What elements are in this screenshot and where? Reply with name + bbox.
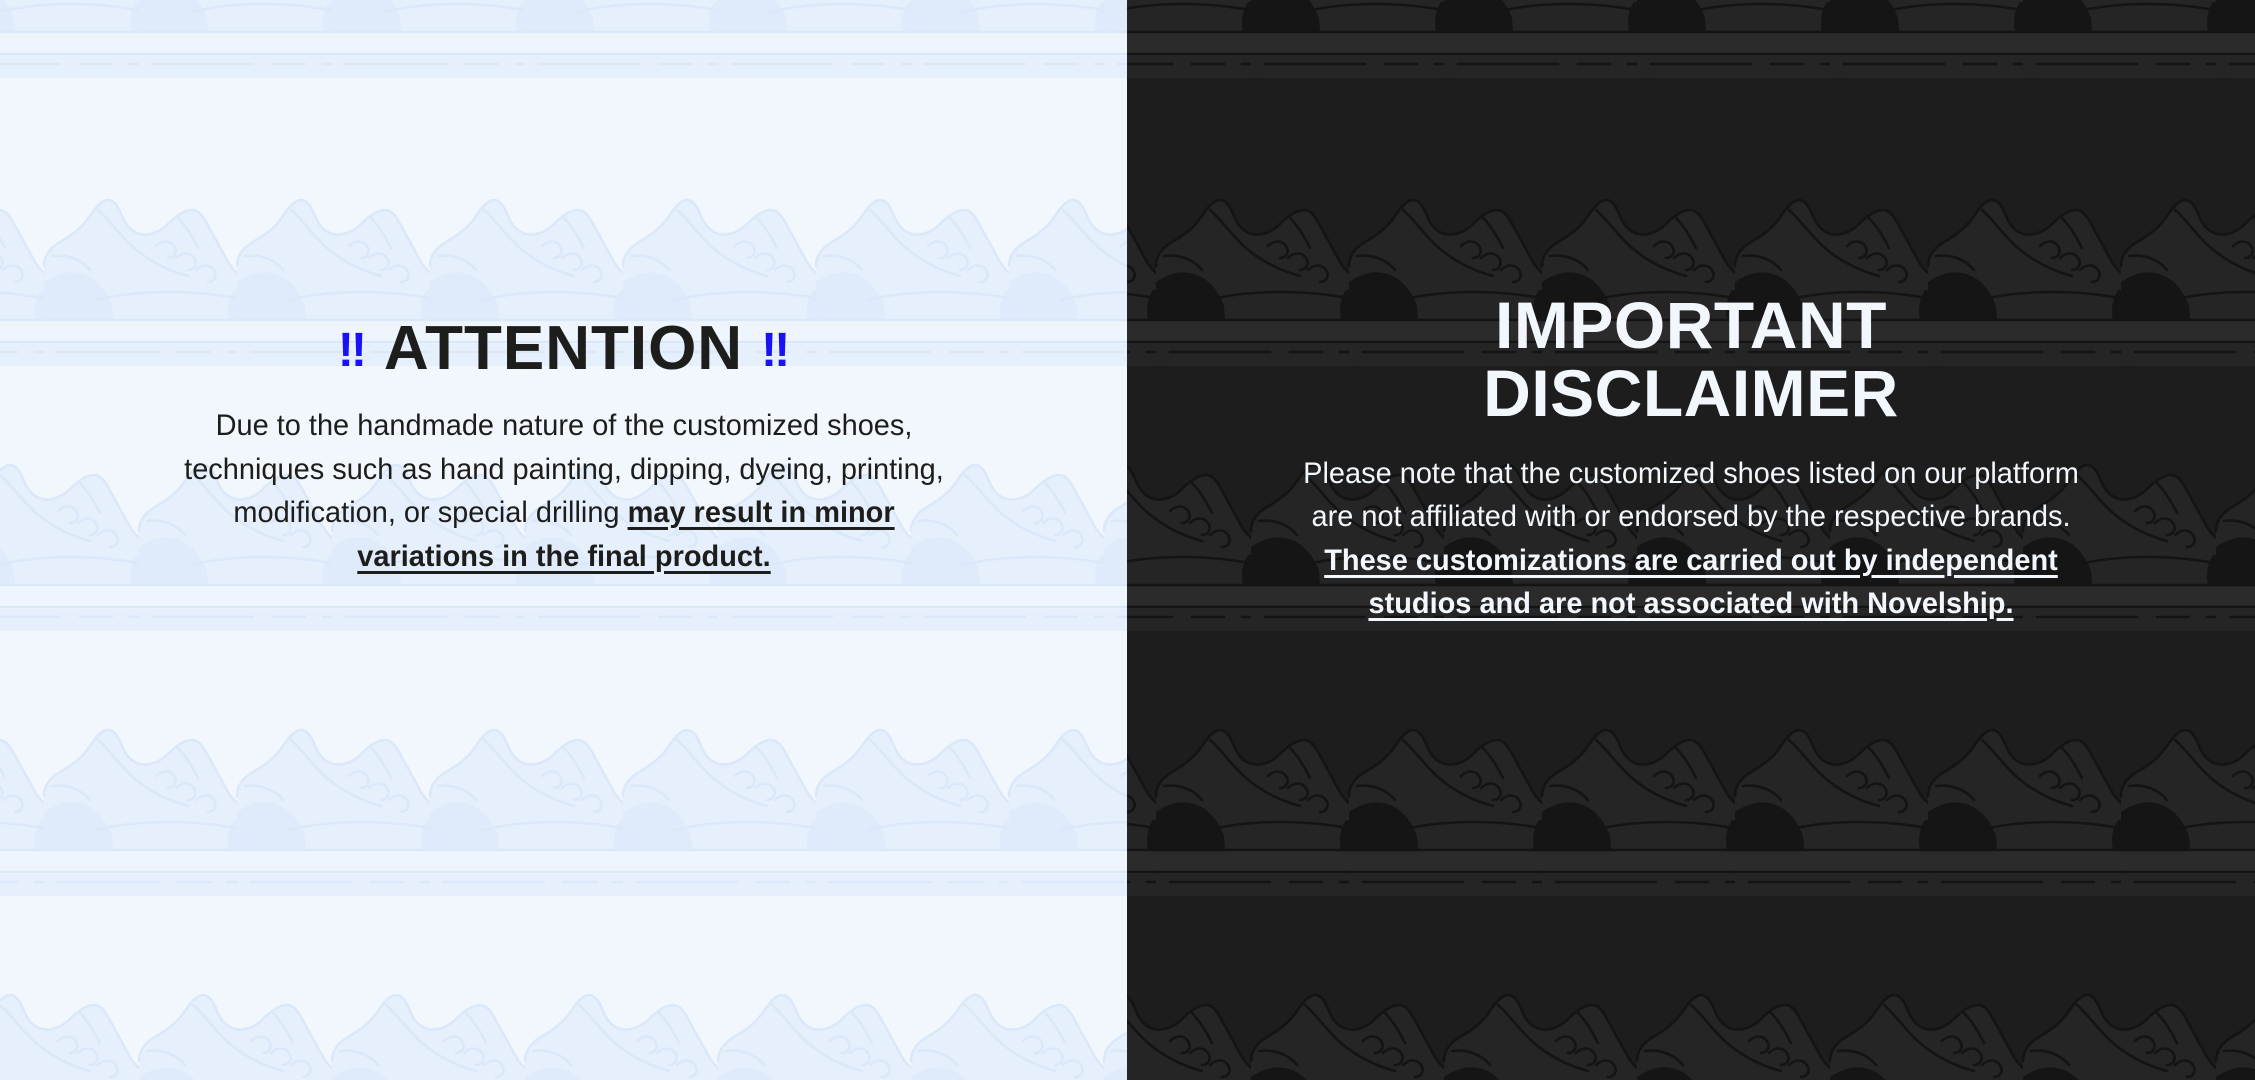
disclaimer-body-plain: Please note that the customized shoes li… — [1303, 457, 2079, 534]
attention-content: ‼ATTENTION‼ Due to the handmade nature o… — [0, 318, 1127, 578]
disclaimer-heading-line-1: IMPORTANT — [1495, 288, 1887, 362]
disclaimer-heading: IMPORTANTDISCLAIMER — [1127, 292, 2255, 428]
attention-panel: ‼ATTENTION‼ Due to the handmade nature o… — [0, 0, 1127, 1080]
attention-body: Due to the handmade nature of the custom… — [178, 404, 950, 578]
disclaimer-content: IMPORTANTDISCLAIMER Please note that the… — [1127, 292, 2255, 626]
double-exclamation-icon-left: ‼ — [338, 324, 366, 377]
attention-heading-text: ATTENTION — [384, 314, 743, 383]
attention-heading: ‼ATTENTION‼ — [0, 318, 1127, 380]
disclaimer-panel: IMPORTANTDISCLAIMER Please note that the… — [1127, 0, 2255, 1080]
disclaimer-heading-line-2: DISCLAIMER — [1483, 356, 1899, 430]
double-exclamation-icon-right: ‼ — [761, 324, 789, 377]
disclaimer-body: Please note that the customized shoes li… — [1299, 452, 2083, 626]
disclaimer-body-emphasis: These customizations are carried out by … — [1324, 544, 2058, 621]
split-banner: ‼ATTENTION‼ Due to the handmade nature o… — [0, 0, 2255, 1080]
